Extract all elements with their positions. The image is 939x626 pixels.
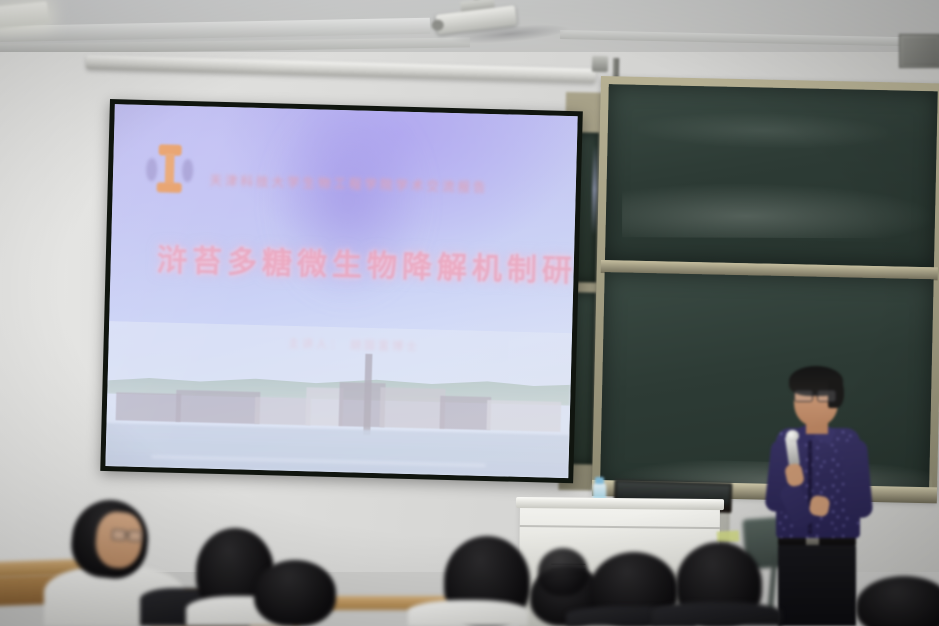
podium-worktop bbox=[516, 497, 724, 510]
screen-surface: 天津科技大学生物工程学院学术交流报告 浒苔多糖微生物降解机制研究 主讲人： 胡国… bbox=[105, 104, 577, 478]
screen-roller-end-cap bbox=[592, 56, 608, 72]
projection-screen[interactable]: 天津科技大学生物工程学院学术交流报告 浒苔多糖微生物降解机制研究 主讲人： 胡国… bbox=[100, 99, 583, 483]
podium-edge-line bbox=[520, 525, 720, 529]
bottle-cap bbox=[595, 477, 604, 484]
audience-member-1-glasses-icon bbox=[112, 529, 143, 540]
wall-mounted-speaker bbox=[899, 34, 939, 68]
audience-member-4-body bbox=[408, 600, 528, 626]
audience-member-6 bbox=[538, 548, 588, 596]
chalkboard-upper-panel bbox=[605, 84, 938, 267]
campus-skyline-photo bbox=[105, 321, 572, 478]
eyeglasses-icon bbox=[794, 390, 836, 400]
presenter-trousers bbox=[778, 544, 856, 626]
sticky-note bbox=[717, 530, 740, 542]
audience-member-8-body bbox=[652, 602, 782, 626]
speaker-grille bbox=[903, 38, 937, 64]
chalk-residue-upper bbox=[638, 111, 889, 150]
presenter-right-arm bbox=[841, 439, 874, 519]
lecture-hall-photo: 天津科技大学生物工程学院学术交流报告 浒苔多糖微生物降解机制研究 主讲人： 胡国… bbox=[0, 0, 939, 626]
audience-member-3 bbox=[254, 560, 336, 626]
chalk-residue-mid bbox=[622, 183, 932, 238]
